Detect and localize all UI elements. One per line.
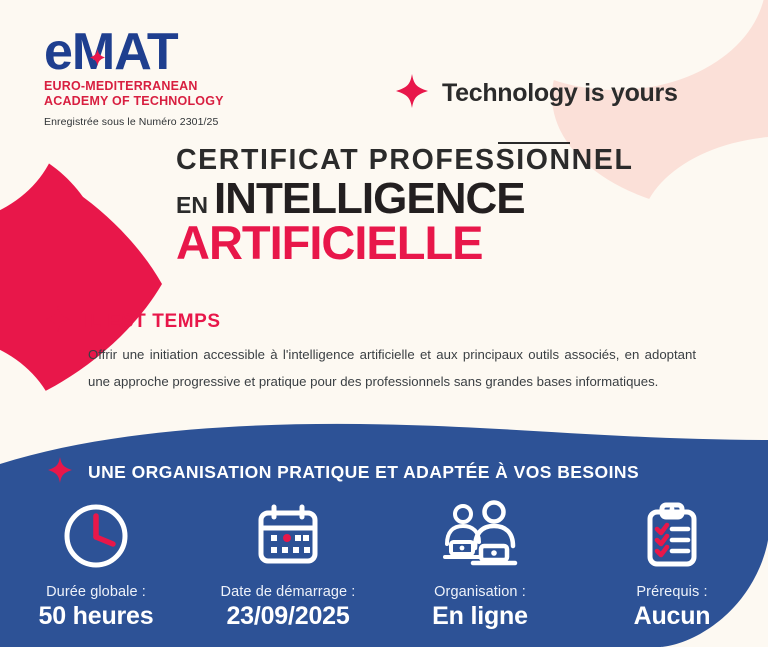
feature-card-value: 50 heures [39,602,154,631]
logo-letters-mat: MAT [72,23,178,81]
tagline-text: Technology is yours [442,79,678,108]
panel-title-text: UNE ORGANISATION PRATIQUE ET ADAPTÉE À V… [88,462,639,483]
feature-card-list: Durée globale : 50 heures [0,500,768,631]
section-title-text: IL EST TEMPS [84,311,221,333]
calendar-icon [252,500,324,572]
logo-subtitle-line2: ACADEMY OF TECHNOLOGY [44,94,284,108]
page-title: CERTIFICAT PROFESSIONNEL EN INTELLIGENCE… [176,146,736,267]
poster-content: eMAT EURO-MEDITERRANEAN ACADEMY OF TECHN… [0,0,768,647]
poster-canvas: eMAT EURO-MEDITERRANEAN ACADEMY OF TECHN… [0,0,768,647]
logo-subtitle: EURO-MEDITERRANEAN ACADEMY OF TECHNOLOGY [44,79,284,108]
feature-card-start-date: Date de démarrage : 23/09/2025 [192,500,384,631]
clock-icon [60,500,132,572]
people-laptop-icon [439,500,521,572]
sparkle-icon [90,25,105,42]
four-point-star-icon [46,306,70,337]
logo-wordmark: eMAT [44,28,284,77]
feature-card-value: Aucun [634,602,711,631]
logo-registration: Enregistrée sous le Numéro 2301/25 [44,116,284,128]
feature-card-label: Organisation : [434,584,526,600]
clipboard-check-icon [636,500,708,572]
feature-card-prerequisites: Prérequis : Aucun [576,500,768,631]
feature-card-label: Date de démarrage : [221,584,356,600]
feature-card-duration: Durée globale : 50 heures [0,500,192,631]
logo-letter-e: e [44,23,72,81]
panel-heading: UNE ORGANISATION PRATIQUE ET ADAPTÉE À V… [48,457,639,488]
title-prefix-en: EN [176,192,208,219]
title-line-1: CERTIFICAT PROFESSIONNEL [176,146,736,176]
feature-card-value: 23/09/2025 [226,602,349,631]
title-line-2-wrap: EN INTELLIGENCE [176,177,736,221]
title-line-3: ARTIFICIELLE [176,219,736,267]
title-rule [498,142,570,144]
feature-card-organisation: Organisation : En ligne [384,500,576,631]
feature-card-value: En ligne [432,602,528,631]
four-point-star-icon [396,74,428,113]
section-heading-il-est-temps: IL EST TEMPS [46,306,221,337]
title-line-2: INTELLIGENCE [214,177,525,221]
logo-subtitle-line1: EURO-MEDITERRANEAN [44,79,284,93]
feature-card-label: Prérequis : [636,584,707,600]
four-point-star-icon [48,457,72,488]
tagline: Technology is yours [396,74,678,113]
section-body-text: Offrir une initiation accessible à l'int… [88,341,696,395]
feature-card-label: Durée globale : [46,584,146,600]
brand-logo: eMAT EURO-MEDITERRANEAN ACADEMY OF TECHN… [44,28,284,128]
